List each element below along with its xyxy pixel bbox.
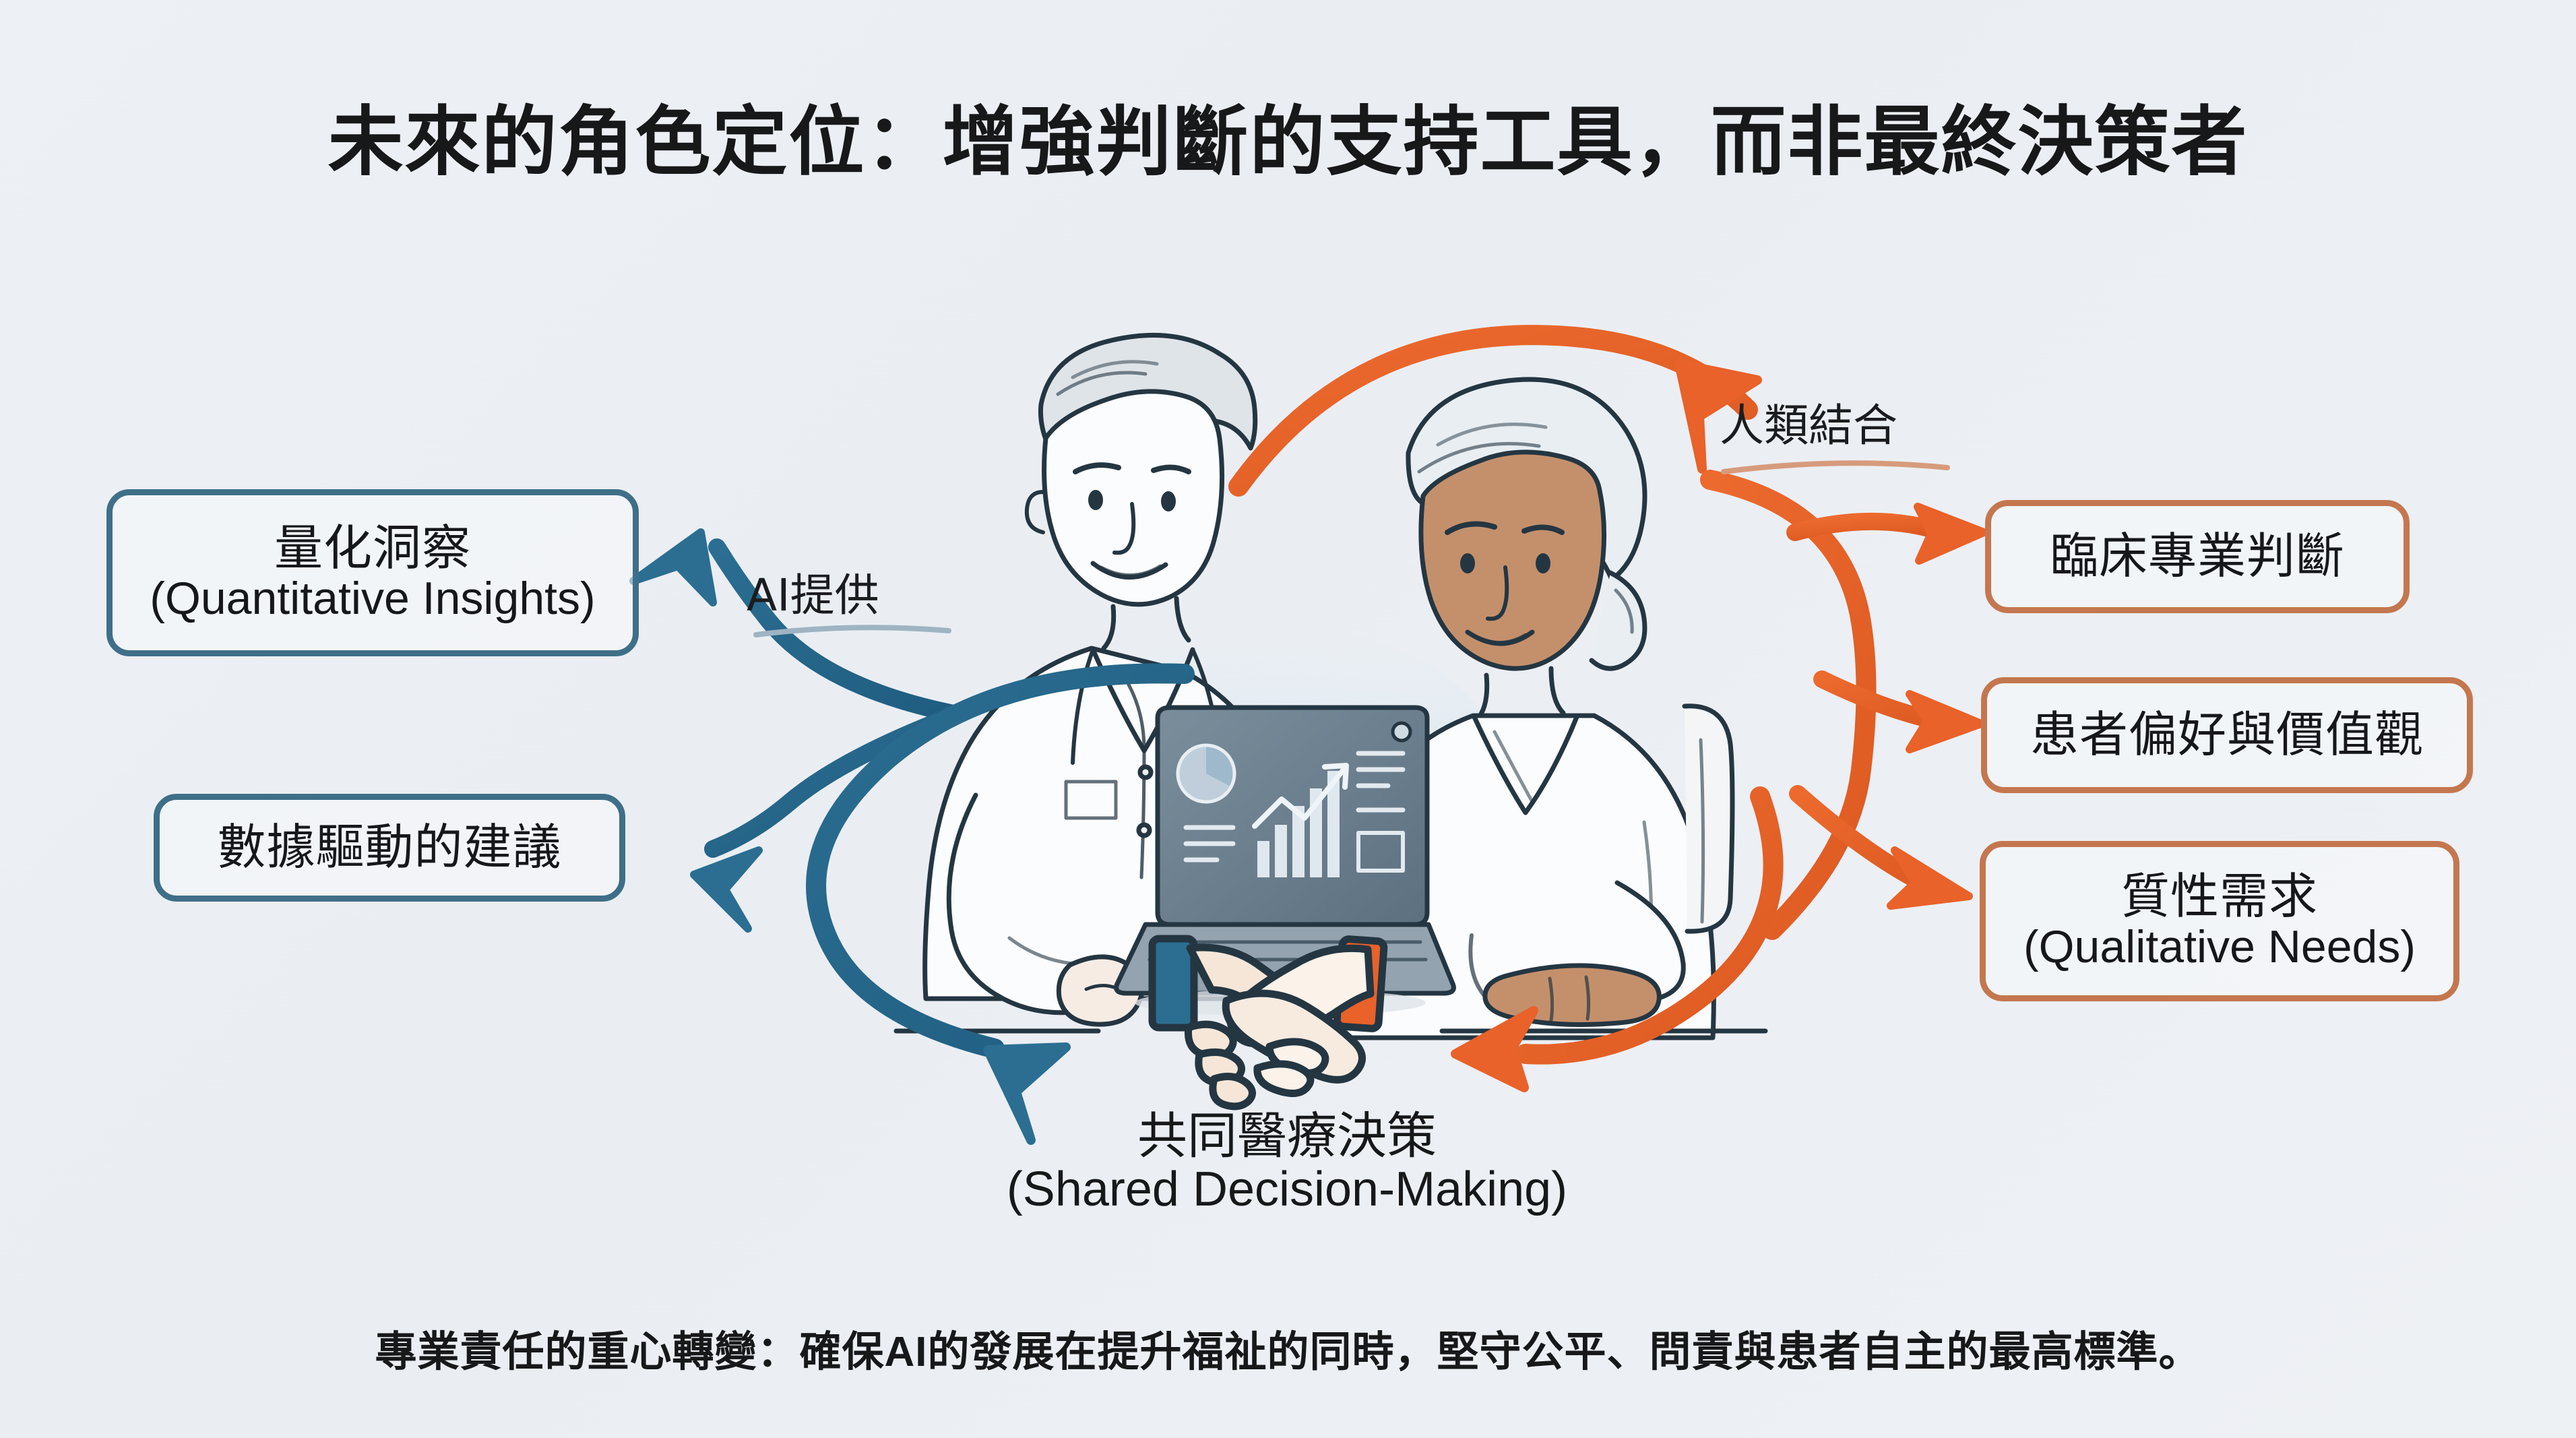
arrowhead-qualitative bbox=[1891, 850, 1969, 906]
box-label-line1: 質性需求 bbox=[2121, 871, 2318, 923]
arrow-top-arc-to-human bbox=[1238, 335, 1748, 487]
underline-human-integration bbox=[1724, 463, 1947, 472]
concept-box-data-driven-recommendations[interactable]: 數據驅動的建議 bbox=[154, 794, 625, 902]
concept-box-qualitative-needs[interactable]: 質性需求 (Qualitative Needs) bbox=[1980, 841, 2459, 1001]
box-label-line1: 量化洞察 bbox=[274, 523, 471, 574]
arrowhead-handshake-orange bbox=[1455, 1011, 1534, 1088]
page-title: 未來的角色定位：增強判斷的支持工具，而非最終決策者 bbox=[0, 81, 2576, 190]
concept-box-clinical-judgment[interactable]: 臨床專業判斷 bbox=[1985, 500, 2410, 613]
arrow-human-trunk bbox=[1710, 480, 1866, 930]
concept-box-patient-preferences[interactable]: 患者偏好與價值觀 bbox=[1981, 677, 2473, 793]
footer-note: 專業責任的重心轉變：確保AI的發展在提升福祉的同時，堅守公平、問責與患者自主的最… bbox=[0, 1317, 2576, 1378]
label-human-integration: 人類結合 bbox=[1720, 389, 1897, 454]
shared-decision-making-caption: 共同醫療決策 (Shared Decision-Making) bbox=[930, 1108, 1644, 1217]
underline-ai-provides bbox=[756, 627, 949, 635]
arrow-ai-to-datadriven bbox=[713, 714, 957, 849]
arrowhead-clinical bbox=[1918, 507, 1984, 561]
arrowhead-datadriven bbox=[694, 850, 759, 929]
box-label-line1: 患者偏好與價值觀 bbox=[2030, 710, 2424, 761]
caption-line2: (Shared Decision-Making) bbox=[930, 1163, 1644, 1216]
handshake-icon bbox=[1145, 927, 1415, 1122]
arrowhead-quantitative bbox=[633, 532, 713, 602]
box-label-line2: (Quantitative Insights) bbox=[150, 574, 595, 623]
concept-box-quantitative-insights[interactable]: 量化洞察 (Quantitative Insights) bbox=[106, 489, 639, 656]
box-label-line2: (Qualitative Needs) bbox=[2023, 923, 2416, 971]
arrow-to-patient-preferences bbox=[1822, 679, 1937, 721]
label-ai-provides: AI提供 bbox=[747, 559, 879, 624]
arrow-human-to-handshake bbox=[1526, 796, 1773, 1055]
box-label-line1: 臨床專業判斷 bbox=[2050, 531, 2345, 582]
arrow-to-qualitative-needs bbox=[1798, 794, 1927, 885]
arrow-ai-to-handshake bbox=[816, 673, 1185, 1049]
box-label-line1: 數據驅動的建議 bbox=[217, 822, 561, 873]
handshake-left-cuff bbox=[1152, 939, 1194, 1028]
arrow-to-clinical-judgment bbox=[1795, 522, 1934, 532]
arrowhead-preferences bbox=[1910, 694, 1981, 749]
